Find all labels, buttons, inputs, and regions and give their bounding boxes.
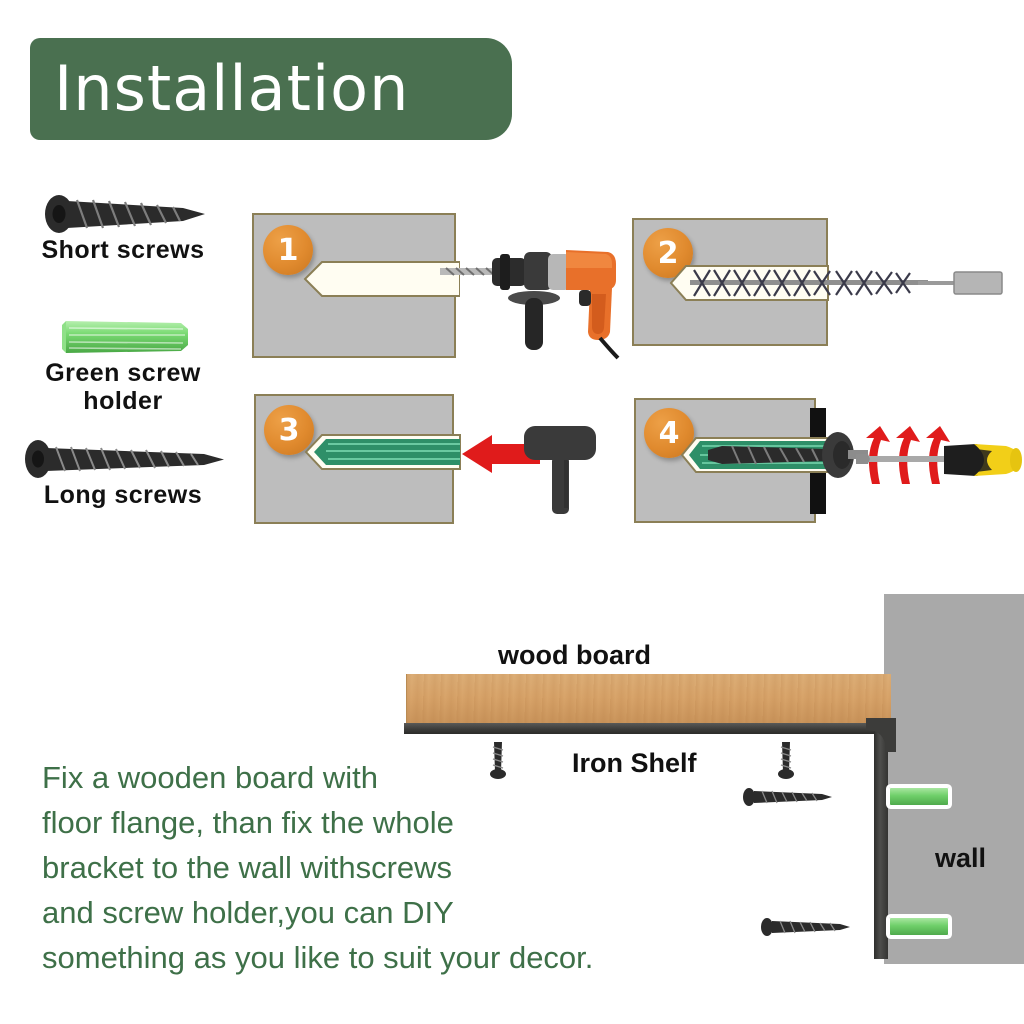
legend-label-long-screw: Long screws [0, 481, 246, 509]
long-screw-upper [742, 786, 834, 808]
drill-icon [440, 228, 620, 360]
legend-label-short-screw: Short screws [0, 236, 246, 264]
wall-panel [884, 594, 1024, 964]
legend-label-green-holder: Green screw holder [0, 359, 246, 415]
instructions-line-2: floor flange, than fix the whole [42, 800, 572, 845]
drill-bit-in-hole-icon [668, 262, 1008, 304]
legend-item-green-holder: Green screw holder [0, 315, 246, 415]
legend-item-short-screw: Short screws [0, 190, 246, 264]
short-screw-right [776, 740, 796, 780]
instructions-line-3: bracket to the wall withscrews [42, 845, 572, 890]
wall-label: wall [935, 843, 986, 874]
instructions-line-1: Fix a wooden board with [42, 755, 572, 800]
header-banner: Installation [30, 38, 512, 140]
iron-shelf-label: Iron Shelf [572, 748, 697, 779]
step-number-3: 3 [279, 413, 300, 448]
instructions-line-4: and screw holder,you can DIY [42, 890, 572, 935]
wood-board-label: wood board [498, 640, 651, 671]
installation-infographic: Installation Short screws [0, 0, 1024, 1024]
hammer-icon [520, 424, 600, 519]
iron-shelf-vertical [874, 723, 888, 959]
page-title: Installation [30, 58, 409, 120]
wood-board [406, 674, 891, 726]
legend-label-green-holder-line2: holder [0, 387, 246, 415]
legend-item-long-screw: Long screws [0, 435, 246, 509]
instructions-text: Fix a wooden board with floor flange, th… [42, 755, 572, 980]
green-anchor-icon [33, 315, 213, 359]
anchor-in-hole-icon [302, 432, 462, 472]
screwdriver-icon [856, 440, 1024, 480]
iron-shelf-horizontal [404, 723, 892, 734]
short-screw-icon [33, 190, 213, 236]
step-number-1: 1 [278, 233, 299, 268]
long-screw-lower [760, 916, 852, 938]
wall-anchor-upper [889, 787, 949, 806]
iron-shelf-corner [866, 718, 896, 752]
step-number-4: 4 [659, 416, 680, 451]
legend-label-green-holder-line1: Green screw [0, 359, 246, 387]
long-screw-icon [16, 435, 231, 481]
wall-anchor-lower [889, 917, 949, 936]
drill-hole-1 [300, 258, 460, 300]
parts-legend: Short screws Green screw [0, 190, 246, 530]
instructions-line-5: something as you like to suit your decor… [42, 935, 572, 980]
